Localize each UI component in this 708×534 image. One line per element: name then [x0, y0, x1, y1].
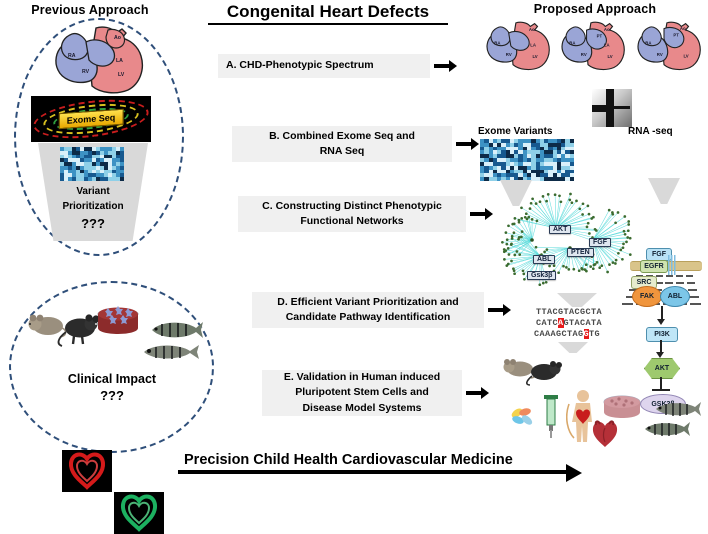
gene-node-fgf[interactable]: FGF [589, 238, 611, 247]
step-box-b[interactable]: B. Combined Exome Seq and RNA Seq [232, 126, 452, 162]
svg-text:RV: RV [506, 52, 512, 57]
heart-diagram-proposed-1: Ao RA LA RV LV [477, 20, 558, 72]
gene-node-akt[interactable]: AKT [549, 225, 571, 234]
functional-network-graph [498, 182, 638, 302]
pathway-node-abl[interactable]: ABL [660, 286, 690, 307]
svg-text:PT: PT [597, 33, 603, 38]
pathway-arrowhead-1 [657, 319, 665, 325]
fluorescent-heart-red [62, 450, 112, 492]
svg-text:RA: RA [569, 40, 575, 45]
petri-dish-icon [92, 302, 144, 349]
exome-variants-label: Exome Variants [478, 126, 582, 137]
svg-text:LV: LV [118, 72, 125, 78]
zebrafish-icon-2 [138, 340, 200, 369]
svg-text:Ao: Ao [604, 27, 610, 32]
bottom-banner-text: Precision Child Health Cardiovascular Me… [184, 452, 513, 468]
gene-node-pten[interactable]: PTEN [567, 248, 594, 257]
svg-text:RV: RV [581, 52, 587, 57]
dna-sequence-line-3: CAAAGCTAGGTG [534, 330, 600, 340]
funnel-label-1: Variant [48, 186, 138, 197]
figure-title: Congenital Heart Defects [208, 2, 448, 25]
exome-seq-image: Exome Seq [31, 96, 151, 142]
funnel-label-2: Prioritization [38, 201, 148, 212]
pathway-node-fak[interactable]: FAK [632, 286, 662, 307]
pills-icon [508, 404, 540, 433]
clinical-impact-unknown: ??? [42, 388, 182, 403]
step-box-a[interactable]: A. CHD-Phenotypic Spectrum [218, 54, 430, 78]
rna-seq-label: RNA -seq [628, 126, 698, 137]
gene-node-abl[interactable]: ABL [533, 255, 555, 264]
dna-sequence-line-1: TTACGTACGCTA [536, 308, 602, 318]
right-column-header: Proposed Approach [505, 2, 685, 16]
heart-diagram-proposed-2: Ao PT RA LA RV LV [552, 20, 633, 72]
svg-text:RA: RA [494, 40, 500, 45]
banner-arrow-shaft [178, 470, 568, 474]
syringe-icon [538, 395, 564, 444]
left-column-header: Previous Approach [10, 3, 170, 17]
svg-text:RA: RA [68, 53, 76, 59]
svg-text:PT: PT [673, 33, 679, 38]
funnel-below-dna [558, 342, 588, 353]
svg-text:Ao: Ao [680, 26, 686, 31]
fluorescent-heart-green [114, 492, 164, 534]
svg-text:RV: RV [657, 52, 663, 57]
step-box-e[interactable]: E. Validation in Human induced Pluripote… [262, 370, 462, 416]
pathway-arrowhead-2 [656, 352, 664, 358]
funnel-label-3: ??? [48, 216, 138, 231]
figure-canvas: Congenital Heart Defects Previous Approa… [0, 0, 708, 484]
banner-arrow-head [566, 464, 582, 482]
zebrafish-validation-icon-2 [641, 418, 691, 445]
funnel-rna [648, 178, 680, 204]
receptor-stripes [668, 255, 677, 275]
svg-text:LA: LA [604, 43, 610, 48]
svg-text:Ao: Ao [529, 27, 535, 32]
svg-text:LA: LA [530, 43, 536, 48]
dna-sequence-line-2: CATCAGTACATA [536, 319, 602, 329]
pathway-inhibit-bar [652, 389, 670, 391]
pathway-node-egfr[interactable]: EGFR [640, 260, 668, 273]
crosshair-block [592, 89, 632, 127]
svg-text:Ao: Ao [114, 35, 121, 41]
svg-text:LA: LA [116, 58, 123, 64]
pathway-node-pi3k[interactable]: PI3K [646, 327, 678, 342]
step-box-c[interactable]: C. Constructing Distinct Phenotypic Func… [238, 196, 466, 232]
step-box-d[interactable]: D. Efficient Variant Prioritization and … [252, 292, 484, 328]
svg-text:LV: LV [683, 53, 688, 58]
svg-text:RV: RV [82, 69, 90, 75]
mouse-icon-validation-black [524, 360, 566, 391]
clinical-impact-label: Clinical Impact [42, 372, 182, 386]
svg-text:RA: RA [645, 40, 651, 45]
pathway-node-akt[interactable]: AKT [644, 358, 680, 379]
anatomical-heart-icon [589, 418, 621, 453]
heatmap-exome-variants [480, 139, 574, 181]
svg-text:LV: LV [532, 54, 537, 59]
heart-diagram-previous: Ao RA LA RV LV [42, 24, 154, 96]
svg-text:LV: LV [607, 54, 612, 59]
heart-diagram-proposed-3: Ao PT RA RV LV [628, 20, 708, 72]
heatmap-variants-left [60, 147, 124, 181]
gene-node-gsk3b[interactable]: Gsk3β [527, 271, 556, 280]
